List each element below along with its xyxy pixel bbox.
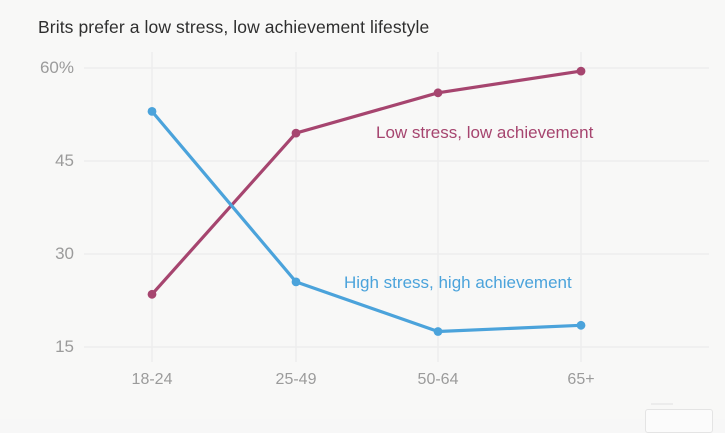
- x-axis-tick-label: 25-49: [276, 371, 317, 389]
- data-point[interactable]: [434, 88, 443, 97]
- x-axis-tick-label: 18-24: [132, 371, 173, 389]
- line-chart-plot: [0, 0, 725, 419]
- data-point[interactable]: [292, 278, 301, 287]
- series-line-0: [152, 71, 581, 294]
- y-axis-tick-label: 15: [0, 337, 74, 357]
- x-axis-tick-label: 65+: [567, 371, 594, 389]
- data-point[interactable]: [292, 129, 301, 138]
- data-point[interactable]: [148, 290, 157, 299]
- series-points: [148, 67, 586, 336]
- data-point[interactable]: [577, 321, 586, 330]
- vertical-gridlines: [152, 52, 581, 362]
- chart-card: Brits prefer a low stress, low achieveme…: [0, 0, 725, 419]
- footer-control-stub[interactable]: [645, 409, 713, 433]
- gridlines: [84, 68, 709, 347]
- y-axis-tick-label: 60%: [0, 58, 74, 78]
- data-point[interactable]: [434, 327, 443, 336]
- data-point[interactable]: [148, 107, 157, 116]
- footer-divider: [651, 403, 673, 405]
- y-axis-tick-label: 45: [0, 151, 74, 171]
- series-label-high-stress: High stress, high achievement: [344, 273, 572, 293]
- y-axis-tick-label: 30: [0, 244, 74, 264]
- series-label-low-stress: Low stress, low achievement: [376, 123, 593, 143]
- x-axis-tick-label: 50-64: [418, 371, 459, 389]
- data-point[interactable]: [577, 67, 586, 76]
